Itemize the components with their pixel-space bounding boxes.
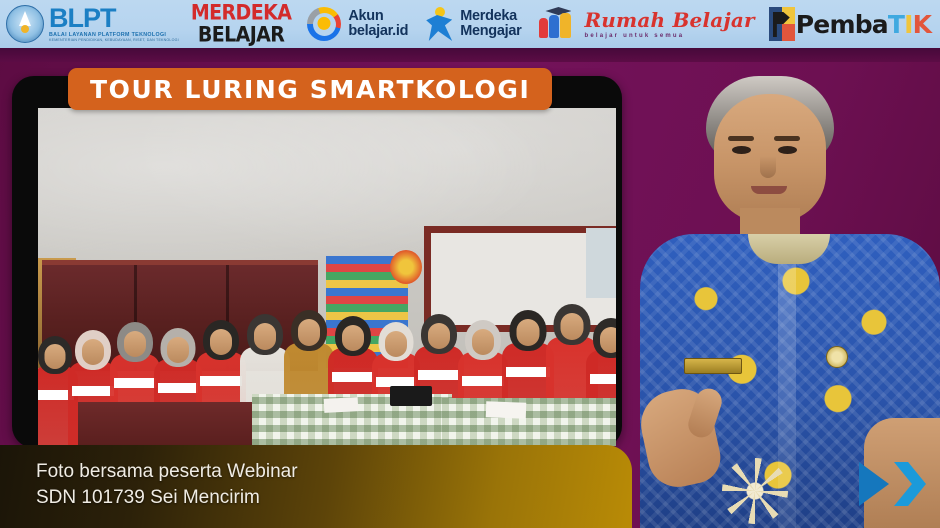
batik-star-motif — [718, 454, 792, 528]
pembatik-text-k: K — [913, 10, 932, 39]
person-face — [561, 313, 584, 340]
merdeka-belajar-line-2: BELAJAR — [198, 24, 284, 44]
rumah-belajar-line-2: belajar untuk semua — [584, 33, 754, 39]
pembatik-text-pemba: Pemba — [796, 10, 888, 39]
chevron-right-icon[interactable] — [894, 462, 926, 506]
merdeka-mengajar-line-2: Mengajar — [460, 24, 521, 39]
photo-card — [12, 76, 622, 448]
person-face — [385, 331, 407, 357]
front-table — [78, 402, 258, 446]
person-face — [472, 329, 494, 355]
person-sash — [590, 374, 616, 384]
merdeka-belajar-logo: MERDEKA BELAJAR — [191, 0, 292, 48]
pembatik-logo: PembaTIK — [769, 0, 931, 48]
presenter-lapel-pin — [826, 346, 848, 368]
pembatik-mark-icon — [769, 7, 795, 41]
next-slide-arrows[interactable] — [859, 462, 926, 506]
paper-sheet-left — [324, 397, 359, 413]
akun-belajar-line-2: belajar.id — [348, 24, 408, 39]
slide-title-text: TOUR LURING SMARTKOLOGI — [90, 75, 530, 104]
table-object — [390, 386, 432, 406]
slide-stage: BLPT BALAI LAYANAN PLATFORM TEKNOLOGI KE… — [0, 0, 940, 528]
person-sash — [158, 383, 198, 393]
person-sash — [332, 372, 374, 382]
play-triangle-icon[interactable] — [859, 462, 889, 506]
partner-logo-bar: BLPT BALAI LAYANAN PLATFORM TEKNOLOGI KE… — [0, 0, 940, 48]
person-face — [600, 327, 616, 353]
slide-title-banner: TOUR LURING SMARTKOLOGI — [68, 68, 552, 110]
paper-sheet-right — [486, 401, 527, 418]
rumah-belajar-line-1: Rumah Belajar — [584, 10, 754, 30]
rumah-belajar-logo: Rumah Belajar belajar untuk semua — [535, 0, 754, 48]
person-face — [298, 319, 320, 346]
person-face — [517, 319, 540, 346]
person-sash — [72, 386, 114, 396]
person-face — [124, 331, 146, 357]
blpt-logo: BLPT BALAI LAYANAN PLATFORM TEKNOLOGI KE… — [0, 0, 179, 48]
pembatik-text-i: I — [904, 10, 913, 39]
group-photo — [38, 108, 616, 446]
person-sash — [200, 376, 242, 386]
merdeka-mengajar-person-icon — [424, 6, 454, 42]
blpt-acronym: BLPT — [49, 5, 179, 32]
presenter-name-badge — [684, 358, 742, 374]
caption-line-2: SDN 101739 Sei Mencirim — [36, 485, 298, 511]
person-sash — [462, 376, 504, 386]
person-face — [342, 325, 364, 351]
presenter-eye-left — [732, 146, 751, 154]
person-sash — [114, 378, 156, 388]
akun-belajar-line-1: Akun — [348, 9, 408, 24]
merdeka-mengajar-line-1: Merdeka — [460, 9, 521, 24]
person-face — [210, 329, 232, 355]
presenter-mouth — [751, 186, 787, 194]
person-face — [82, 339, 104, 365]
person-face — [45, 344, 66, 369]
person-sash — [506, 367, 550, 377]
tut-wuri-handayani-seal-icon — [6, 5, 44, 43]
person-face — [428, 323, 450, 349]
caption-bar: Foto bersama peserta Webinar SDN 101739 … — [0, 445, 632, 528]
caption-line-1: Foto bersama peserta Webinar — [36, 459, 298, 485]
person-face — [167, 337, 189, 363]
person-sash — [418, 370, 460, 380]
merdeka-belajar-line-1: MERDEKA — [191, 3, 292, 23]
person-face — [254, 323, 276, 350]
blpt-subtitle-2: KEMENTERIAN PENDIDIKAN, KEBUDAYAAN, RISE… — [49, 39, 179, 43]
akun-belajar-ring-icon — [307, 7, 341, 41]
presenter-eye-right — [778, 146, 797, 154]
checkered-tablecloth-right — [442, 398, 616, 446]
presenter-figure — [640, 58, 940, 528]
merdeka-mengajar-logo: Merdeka Mengajar — [424, 0, 521, 48]
pembatik-text-t: T — [888, 10, 904, 39]
rumah-belajar-graduation-icon — [535, 7, 579, 41]
akun-belajar-id-logo: Akun belajar.id — [307, 0, 408, 48]
